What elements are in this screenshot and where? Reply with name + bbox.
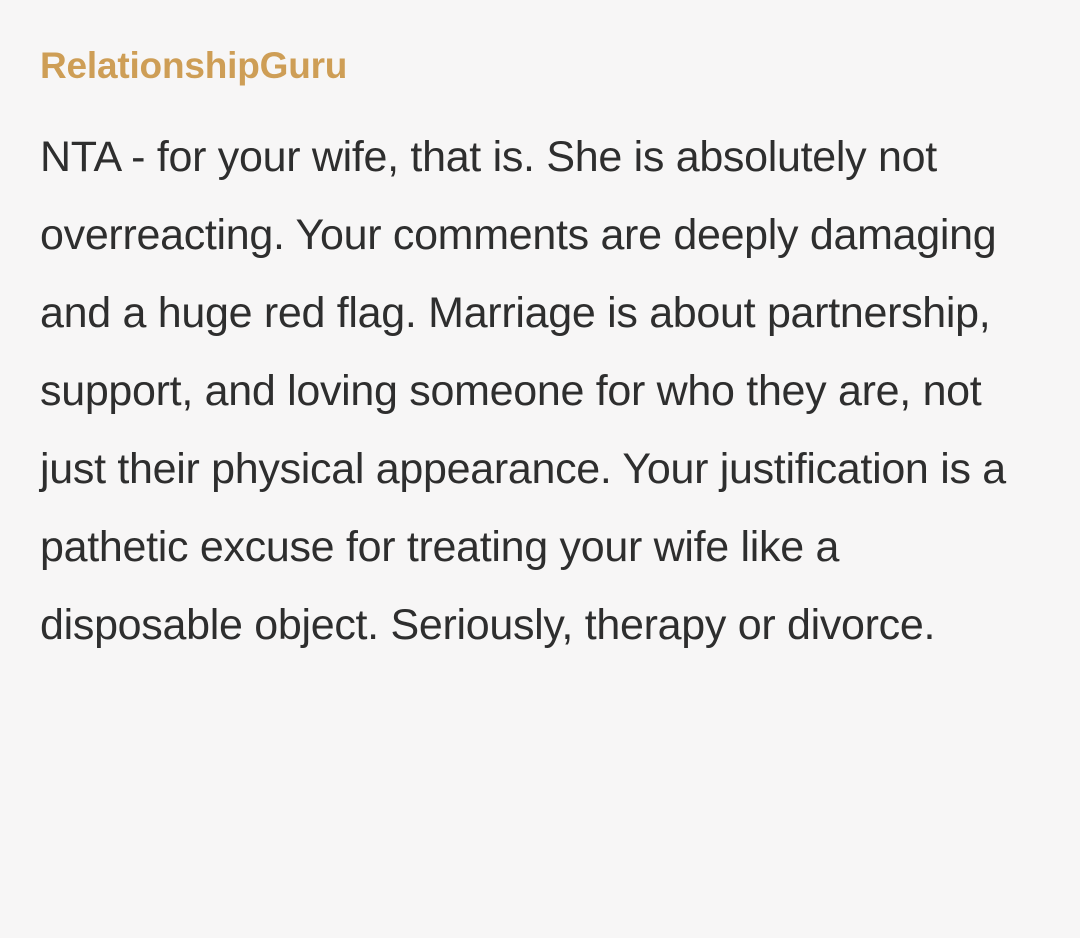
- comment-author-name[interactable]: RelationshipGuru: [40, 44, 1040, 88]
- comment-body-text: NTA - for your wife, that is. She is abs…: [40, 118, 1040, 664]
- comment-card: RelationshipGuru NTA - for your wife, th…: [0, 0, 1080, 938]
